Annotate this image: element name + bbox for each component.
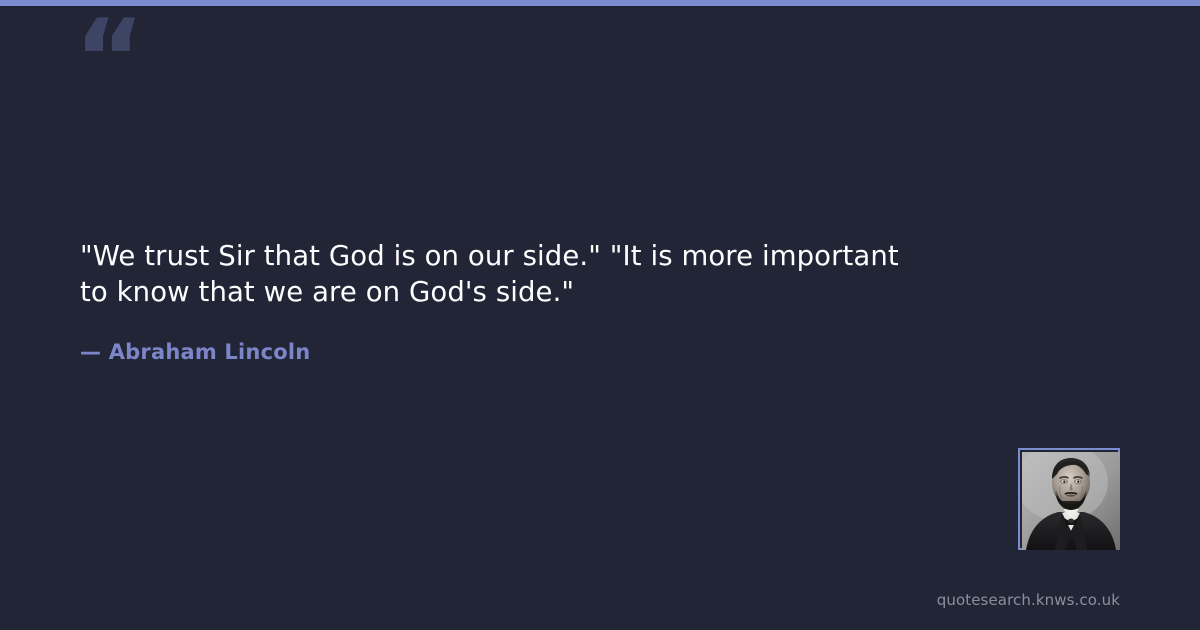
quote-content: "We trust Sir that God is on our side." …: [80, 238, 920, 365]
quote-attribution: — Abraham Lincoln: [80, 310, 920, 365]
avatar: [1022, 452, 1120, 550]
quote-card: “ "We trust Sir that God is on our side.…: [0, 0, 1200, 630]
top-accent-bar: [0, 0, 1200, 6]
author-portrait-image: [1022, 452, 1120, 550]
source-url: quotesearch.knws.co.uk: [937, 590, 1120, 610]
open-quote-icon: “: [74, 6, 143, 114]
author-portrait-frame: [1018, 448, 1120, 550]
quote-text: "We trust Sir that God is on our side." …: [80, 238, 920, 310]
